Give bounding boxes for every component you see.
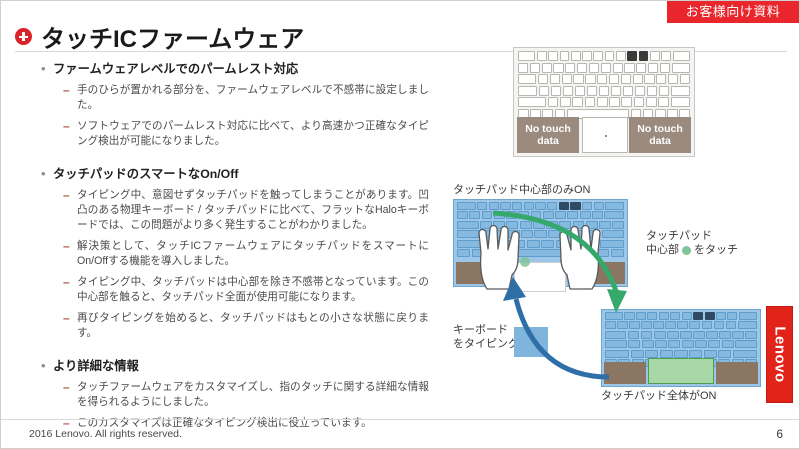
bullet-dot: • [41, 166, 53, 181]
list-item-text: 再びタイピングを始めると、タッチパッドはもとの小さな状態に戻ります。 [77, 311, 429, 341]
spacer [41, 341, 451, 356]
bullet-dot: • [41, 61, 53, 76]
keyboard-illustration-bottom [601, 309, 761, 387]
label-touch-center-prefix: 中心部 [646, 244, 679, 256]
label-keyboard-typing: キーボード をタイピング [453, 323, 519, 351]
touchpad-top [582, 117, 628, 153]
lenovo-logo: Lenovo [766, 306, 793, 403]
no-touch-zone-right: No touch data [629, 117, 691, 153]
section-heading: • より詳細な情報 [41, 358, 451, 374]
no-touch-zone-left: No touch data [517, 117, 579, 153]
page-number: 6 [776, 427, 783, 441]
keyboard-illustration-top: No touch data No touch data [513, 47, 695, 157]
keyboard-row [518, 51, 690, 61]
slide-canvas: お客様向け資料 タッチICファームウェア • ファームウェアレベルでのパームレス… [0, 0, 800, 449]
label-touch-center: タッチパッド 中心部をタッチ [646, 229, 738, 257]
list-item: – タッチファームウェアをカスタマイズし、指のタッチに関する詳細な情報を得られる… [41, 380, 451, 410]
list-item: – 解決策として、タッチICファームウェアにタッチパッドをスマートにOn/Off… [41, 239, 451, 269]
keyboard-row [518, 74, 690, 84]
list-item-text: タッチファームウェアをカスタマイズし、指のタッチに関する詳細な情報を得られるよう… [77, 380, 429, 410]
section-heading-text: タッチパッドのスマートなOn/Off [53, 166, 238, 182]
keyboard-row [605, 340, 757, 348]
keyboard-row [518, 63, 690, 73]
list-item: – タイピング中、タッチパッドは中心部を除き不感帯となっています。この中心部を触… [41, 275, 451, 305]
section-heading-text: より詳細な情報 [53, 358, 139, 374]
list-item: – 手のひらが置かれる部分を、ファームウェアレベルで不感帯に設定しました。 [41, 83, 451, 113]
touchpad-bottom-active [648, 358, 714, 384]
label-typing-line1: キーボード [453, 323, 519, 337]
list-item: – ソフトウェアでのパームレスト対応に比べて、より高速かつ正確なタイピング検出が… [41, 119, 451, 149]
hand-right-icon [552, 219, 608, 291]
keyboard-row [518, 86, 690, 96]
dash-marker: – [63, 239, 77, 254]
keyboard-row [605, 312, 757, 320]
spacer [41, 149, 451, 164]
list-item-text: タイピング中、タッチパッドは中心部を除き不感帯となっています。この中心部を触ると… [77, 275, 429, 305]
keyboard-row [518, 97, 690, 107]
list-item-text: タイピング中、意図せずタッチパッドを触ってしまうことがあります。凹凸のある物理キ… [77, 188, 429, 233]
dash-marker: – [63, 83, 77, 98]
keyboard-row [605, 350, 757, 358]
list-item-text: ソフトウェアでのパームレスト対応に比べて、より高速かつ正確なタイピング検出が可能… [77, 119, 429, 149]
label-typing-line2: をタイピング [453, 337, 519, 351]
dash-marker: – [63, 275, 77, 290]
footer-divider [1, 419, 800, 420]
section-heading-text: ファームウェアレベルでのパームレスト対応 [53, 61, 298, 77]
audience-badge: お客様向け資料 [667, 1, 799, 23]
bullet-dot: • [41, 358, 53, 373]
list-item-text: 解決策として、タッチICファームウェアにタッチパッドをスマートにOn/Offする… [77, 239, 429, 269]
lenovo-logo-text: Lenovo [771, 318, 788, 390]
copyright-text: 2016 Lenovo. All rights reserved. [29, 428, 182, 440]
dash-marker: – [63, 119, 77, 134]
green-dot-icon [682, 246, 691, 255]
dash-marker: – [63, 311, 77, 326]
list-item: – タイピング中、意図せずタッチパッドを触ってしまうことがあります。凹凸のある物… [41, 188, 451, 233]
list-item-text: 手のひらが置かれる部分を、ファームウェアレベルで不感帯に設定しました。 [77, 83, 429, 113]
label-touch-center-line1: タッチパッド [646, 229, 738, 243]
dash-marker: – [63, 380, 77, 395]
page-title: タッチICファームウェア [15, 19, 304, 54]
section-heading: • タッチパッドのスマートなOn/Off [41, 166, 451, 182]
blue-swatch [514, 327, 548, 357]
label-touch-center-suffix: をタッチ [694, 244, 738, 256]
content-body: • ファームウェアレベルでのパームレスト対応 – 手のひらが置かれる部分を、ファ… [41, 59, 451, 431]
palm-rest-right [716, 362, 758, 384]
keyboard-row [605, 321, 757, 329]
keyboard-row [605, 331, 757, 339]
palm-rest-left [604, 362, 646, 384]
keyboard-keys [518, 51, 690, 121]
keyboard-row [457, 202, 624, 210]
hand-left-icon [471, 219, 527, 291]
section-heading: • ファームウェアレベルでのパームレスト対応 [41, 61, 451, 77]
label-full-touchpad-on: タッチパッド全体がON [601, 389, 717, 403]
dash-marker: – [63, 188, 77, 203]
label-center-only-on: タッチパッド中心部のみON [453, 183, 591, 197]
list-item: – 再びタイピングを始めると、タッチパッドはもとの小さな状態に戻ります。 [41, 311, 451, 341]
label-touch-center-line2: 中心部をタッチ [646, 243, 738, 257]
plus-circle-icon [15, 28, 32, 45]
page-title-text: タッチICファームウェア [41, 19, 304, 54]
